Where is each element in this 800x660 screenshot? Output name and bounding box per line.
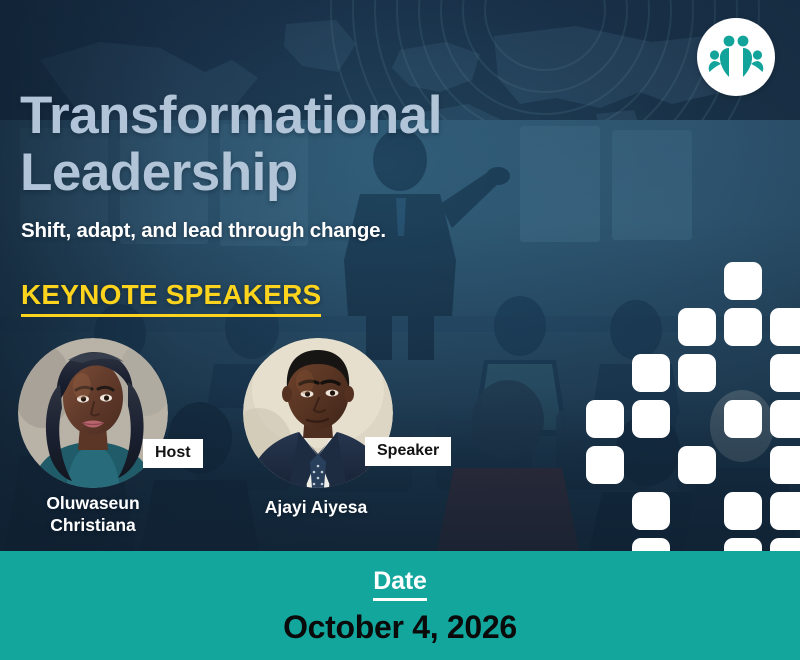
checker-square [770, 492, 800, 530]
checker-square [586, 400, 624, 438]
role-badge-speaker: Speaker [365, 437, 451, 466]
organization-logo [697, 18, 775, 96]
checker-square [586, 446, 624, 484]
speaker-name: Ajayi Aiyesa [228, 496, 404, 518]
checker-square [724, 400, 762, 438]
speaker-name: Oluwaseun Christiana [0, 492, 186, 536]
checker-square [632, 492, 670, 530]
checker-square [724, 308, 762, 346]
checker-square [678, 354, 716, 392]
poster-subtitle: Shift, adapt, and lead through change. [21, 219, 386, 243]
section-heading-keynote-speakers: KEYNOTE SPEAKERS [21, 279, 321, 317]
checker-square [678, 308, 716, 346]
checker-square [770, 308, 800, 346]
date-label-text: Date [373, 567, 426, 601]
checker-square [770, 354, 800, 392]
people-group-icon [708, 32, 764, 82]
role-badge-host: Host [143, 439, 203, 468]
checkerboard-pattern [586, 262, 800, 552]
date-footer-bar: Date October 4, 2026 [0, 551, 800, 660]
date-label: Date [0, 567, 800, 601]
checker-square [632, 400, 670, 438]
event-date: October 4, 2026 [0, 609, 800, 646]
event-poster: Transformational Leadership Shift, adapt… [0, 0, 800, 660]
checker-square [724, 262, 762, 300]
checker-square [678, 446, 716, 484]
checker-square [724, 492, 762, 530]
checker-square [770, 446, 800, 484]
checker-square [770, 400, 800, 438]
checker-square [632, 354, 670, 392]
page-title: Transformational Leadership [20, 88, 580, 201]
